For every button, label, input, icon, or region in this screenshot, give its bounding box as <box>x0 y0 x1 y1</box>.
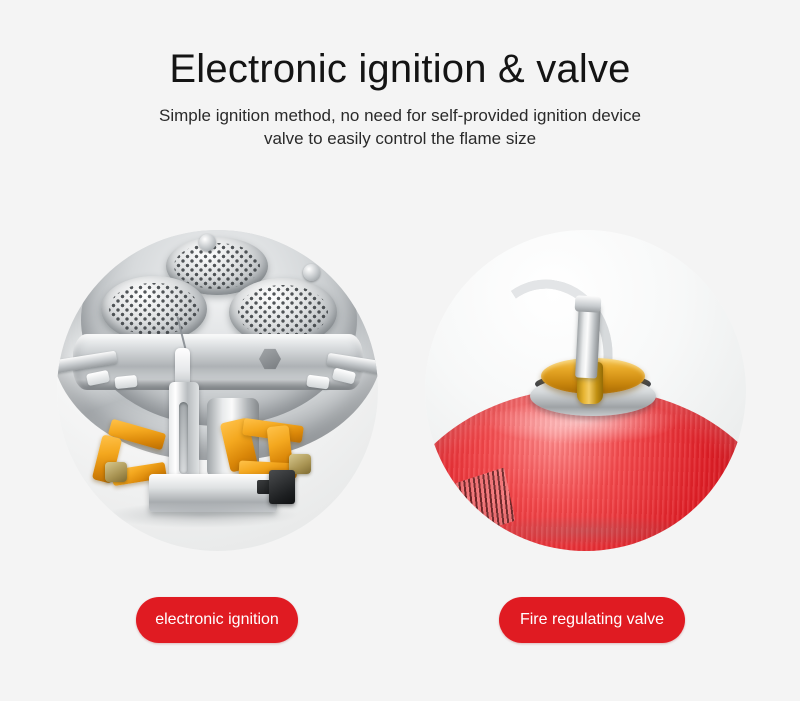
rivet-icon <box>199 234 216 251</box>
valve-nipple-cap <box>575 295 602 312</box>
burner-scene <box>57 230 378 551</box>
hex-vent-icon <box>259 348 281 370</box>
igniter-button-icon <box>269 470 295 504</box>
caption-badge-fire-regulating-valve: Fire regulating valve <box>499 597 685 643</box>
support-tab-icon <box>114 375 137 389</box>
subtitle: Simple ignition method, no need for self… <box>0 92 800 150</box>
page-title: Electronic ignition & valve <box>0 0 800 92</box>
burner-head-left-icon <box>101 276 207 342</box>
leg-nut-icon <box>105 462 127 482</box>
product-feature-banner: Electronic ignition & valve Simple ignit… <box>0 0 800 701</box>
subtitle-line-1: Simple ignition method, no need for self… <box>0 104 800 127</box>
product-shadow <box>103 502 299 528</box>
canister-scene: ✕ <box>425 230 746 551</box>
rivet-icon <box>303 264 320 281</box>
photo-row: ✕ <box>0 230 800 552</box>
valve-nipple <box>575 301 601 378</box>
caption-row: electronic ignition Fire regulating valv… <box>0 597 800 647</box>
caption-badge-electronic-ignition: electronic ignition <box>136 597 298 643</box>
ceramic-insulator <box>175 348 190 386</box>
canister-photo: ✕ <box>425 230 746 551</box>
product-shadow <box>465 516 709 546</box>
burner-photo <box>57 230 378 551</box>
header: Electronic ignition & valve Simple ignit… <box>0 0 800 150</box>
bracket-slot <box>179 402 188 474</box>
subtitle-line-2: valve to easily control the flame size <box>0 127 800 150</box>
